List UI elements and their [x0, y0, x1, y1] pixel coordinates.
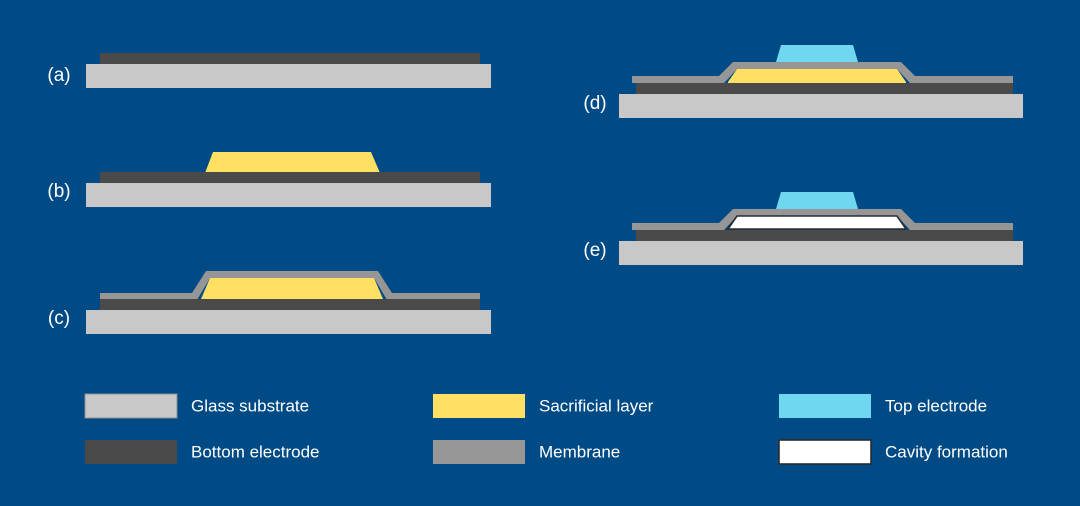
- legend-item-cavity-formation: Cavity formation: [779, 440, 1008, 464]
- bottom-electrode-swatch: [85, 440, 177, 464]
- panel-e-bottom-electrode: [636, 230, 1013, 241]
- panel-c-bottom-electrode: [100, 299, 480, 310]
- legend-item-sacrificial-layer: Sacrificial layer: [433, 394, 654, 418]
- panel-a-bottom-electrode: [100, 53, 480, 64]
- panel-d-top-electrode: [776, 45, 858, 62]
- panel-e-top-electrode: [776, 192, 858, 209]
- cavity-formation-swatch: [779, 440, 871, 464]
- glass-substrate-swatch: [85, 394, 177, 418]
- panel-d-sacrificial-layer-base: [728, 82, 906, 83]
- legend-label-top-electrode: Top electrode: [885, 396, 987, 415]
- panel-b-bottom-electrode: [100, 172, 480, 183]
- panel-c-glass-substrate: [86, 310, 491, 334]
- panel-c-label: (c): [48, 308, 70, 329]
- panel-b-sacrificial-layer: [205, 152, 380, 173]
- panel-e-cavity: [728, 216, 906, 229]
- legend-label-membrane: Membrane: [539, 442, 620, 461]
- legend-label-bottom-electrode: Bottom electrode: [191, 442, 320, 461]
- process-flow-figure: (a) (b) (c) (d) (e): [0, 0, 1080, 506]
- panel-d-bottom-electrode: [636, 83, 1013, 94]
- panel-d-label: (d): [583, 93, 606, 114]
- panel-a-glass-substrate: [86, 64, 491, 88]
- legend-label-glass-substrate: Glass substrate: [191, 396, 309, 415]
- legend-item-glass-substrate: Glass substrate: [85, 394, 309, 418]
- panel-c-sacrificial-layer: [201, 278, 383, 299]
- panel-e-glass-substrate: [619, 241, 1023, 265]
- panel-a: (a): [47, 53, 491, 88]
- panel-b-glass-substrate: [86, 183, 491, 207]
- membrane-swatch: [433, 440, 525, 464]
- panel-d-sacrificial-layer: [728, 69, 906, 82]
- sacrificial-layer-swatch: [433, 394, 525, 418]
- top-electrode-swatch: [779, 394, 871, 418]
- panel-a-label: (a): [47, 65, 70, 86]
- panel-b-label: (b): [47, 181, 70, 202]
- panel-e-label: (e): [583, 240, 606, 261]
- legend-item-bottom-electrode: Bottom electrode: [85, 440, 320, 464]
- legend-label-sacrificial-layer: Sacrificial layer: [539, 396, 654, 415]
- legend-label-cavity-formation: Cavity formation: [885, 442, 1008, 461]
- panel-d-glass-substrate: [619, 94, 1023, 118]
